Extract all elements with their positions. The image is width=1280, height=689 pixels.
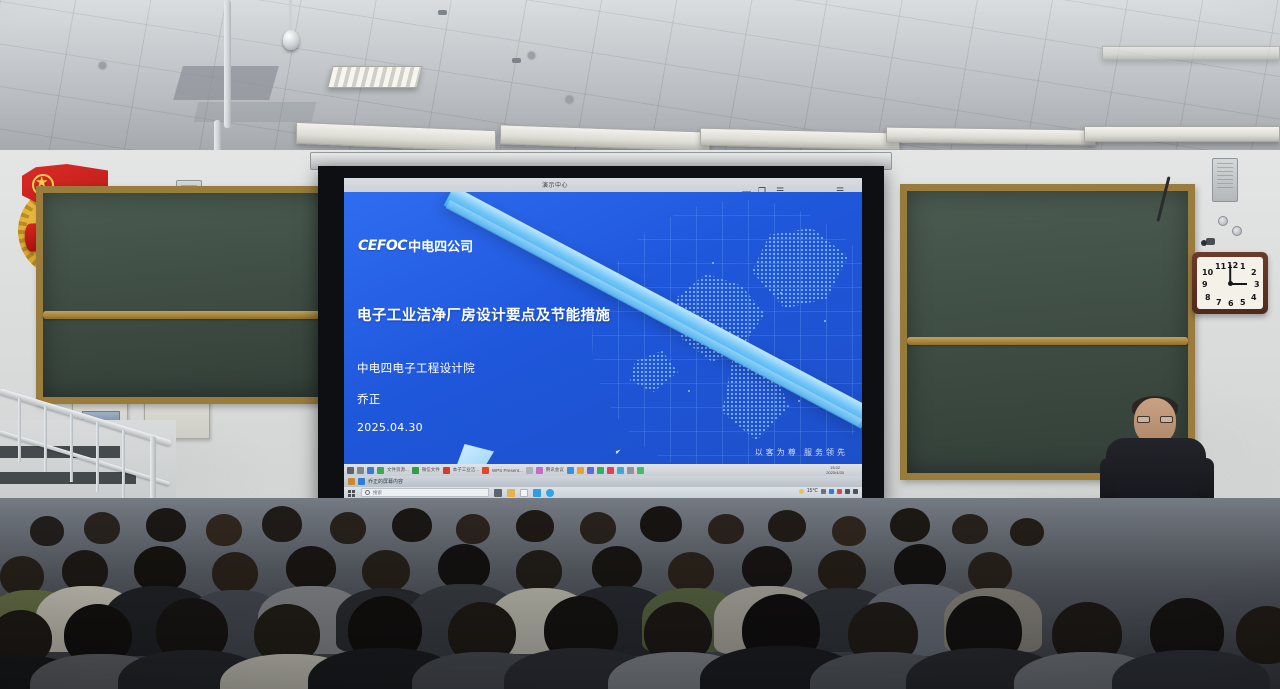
windows-start-icon[interactable] [348, 489, 356, 497]
taskbar-app-icon[interactable] [377, 467, 384, 474]
stair-baluster [96, 422, 99, 492]
audience-head [708, 514, 744, 544]
taskbar-app-icon[interactable] [637, 467, 644, 474]
clock-numeral: 10 [1202, 268, 1213, 277]
globe-node [780, 292, 782, 294]
clock-numeral: 4 [1251, 293, 1257, 302]
taskbar-app-icon[interactable] [347, 467, 354, 474]
store-icon[interactable] [520, 489, 528, 497]
audience-head [212, 552, 258, 594]
audience-head [1236, 606, 1280, 664]
logo-latin-text: CEFOC [358, 238, 407, 254]
clock-center-pin [1228, 281, 1233, 286]
ceiling-light-recessed [327, 66, 422, 88]
taskbar-app-label[interactable]: 本子工业洁... [453, 467, 479, 473]
edge-icon[interactable] [546, 489, 554, 497]
taskbar-app-icon[interactable] [577, 467, 584, 474]
audience-head [206, 514, 242, 546]
clock-numeral: 8 [1205, 293, 1211, 302]
audience-head [1010, 518, 1044, 546]
window-tab-title: 演示中心 [542, 180, 568, 189]
app-icon[interactable] [837, 489, 842, 494]
stair-baluster [122, 430, 125, 502]
taskbar-app-icon[interactable] [536, 467, 543, 474]
presentation-slide: CEFOC 中电四公司 电子工业洁净厂房设计要点及节能措施 中电四电子工程设计院… [344, 192, 862, 464]
remote-taskbar[interactable]: 文件资源... 微信文件 本子工业洁... WPS Present... 腾讯会… [344, 464, 862, 476]
audience-head [742, 546, 792, 590]
ceiling-projector-head [283, 30, 299, 50]
temperature-label: 15℃ [807, 488, 818, 494]
chalk-rail [43, 311, 329, 319]
audience-head [952, 514, 988, 544]
slide-organization: 中电四电子工程设计院 [357, 360, 475, 376]
ceiling-vent-2 [194, 102, 317, 122]
audience-head [84, 512, 120, 544]
stair-step [0, 472, 136, 484]
taskbar-app-icon[interactable] [443, 467, 450, 474]
microphone-icon[interactable] [348, 478, 355, 485]
screen-share-label: 乔正的屏幕内容 [368, 478, 403, 485]
slide-slogan: 以客为尊 服务领先 [755, 447, 848, 458]
wall-hook-right-1 [1218, 216, 1228, 226]
globe-node [824, 320, 826, 322]
taskbar-app-icon[interactable] [627, 467, 634, 474]
presenter-at-podium [1104, 398, 1208, 508]
taskbar-app-icon[interactable] [597, 467, 604, 474]
audience-head [818, 550, 866, 592]
wall-speaker-right [1212, 158, 1238, 202]
mouse-cursor-icon [616, 449, 625, 454]
clock-numeral: 1 [1240, 262, 1246, 271]
audience-head [668, 552, 714, 592]
partly-cloudy-icon[interactable] [799, 489, 804, 494]
ribbon-tail-graphic [452, 444, 494, 464]
ceiling-sensor-1 [438, 10, 447, 15]
screen-share-icon[interactable] [358, 478, 365, 485]
audience-head [30, 516, 64, 546]
system-tray[interactable]: 15℃ [799, 488, 858, 494]
file-explorer-icon[interactable] [507, 489, 515, 497]
task-view-icon[interactable] [494, 489, 502, 497]
taskbar-app-icon[interactable] [412, 467, 419, 474]
clock-date: 2025/4/30 [826, 470, 844, 475]
wall-conduit [224, 0, 231, 128]
search-placeholder: 搜索 [373, 490, 382, 496]
taskbar-app-icon[interactable] [367, 467, 374, 474]
taskbar-app-icon[interactable] [526, 467, 533, 474]
audience-head [456, 514, 490, 544]
wall-clock: 12 1 2 3 4 5 6 7 8 9 10 11 [1192, 252, 1268, 314]
taskbar-app-icon[interactable] [357, 467, 364, 474]
ceiling-sprinkler-2 [528, 52, 535, 59]
slide-presenter-name: 乔正 [357, 391, 381, 407]
taskbar-app-label[interactable]: 微信文件 [422, 467, 440, 473]
audience-head [330, 512, 366, 544]
clock-numeral: 2 [1251, 268, 1257, 277]
speaker-grill [1217, 163, 1233, 191]
onedrive-icon[interactable] [829, 489, 834, 494]
slide-date: 2025.04.30 [357, 421, 423, 434]
chevron-up-icon[interactable] [821, 489, 826, 494]
stair-baluster [18, 398, 21, 462]
audience-head [516, 510, 554, 542]
ceiling-light-bar-5 [1084, 126, 1280, 142]
lens-left [1137, 416, 1150, 423]
globe-node [712, 262, 714, 264]
taskbar-app-icon[interactable] [607, 467, 614, 474]
stair-baluster [44, 406, 47, 472]
remote-taskbar-clock: 15:02 2025/4/30 [826, 465, 844, 475]
clock-numeral: 7 [1216, 298, 1222, 307]
search-icon [365, 490, 370, 495]
taskbar-app-icon[interactable] [567, 467, 574, 474]
audience-head [832, 516, 866, 546]
clock-numeral: 11 [1215, 262, 1226, 271]
audience-head [516, 550, 562, 592]
logo-chinese-text: 中电四公司 [408, 236, 473, 255]
taskbar-app-label[interactable]: 文件资源... [387, 467, 409, 473]
taskbar-app-label[interactable]: 腾讯会议 [546, 467, 564, 473]
taskbar-app-icon[interactable] [587, 467, 594, 474]
seated-audience [0, 498, 1280, 689]
projected-screen: 演示中心 — ❐ ☰ ☰ 正在演示 · 共享中 [344, 178, 862, 498]
clock-numeral: 6 [1228, 299, 1234, 308]
taskbar-app-icon[interactable] [482, 467, 489, 474]
stair-baluster [70, 414, 73, 482]
clock-numeral: 9 [1202, 280, 1208, 289]
taskbar-app-icon[interactable] [617, 467, 624, 474]
ceiling-sprinkler-1 [99, 62, 106, 69]
audience-head [968, 552, 1012, 592]
lens-right [1160, 416, 1173, 423]
clock-face: 12 1 2 3 4 5 6 7 8 9 10 11 [1197, 257, 1263, 309]
network-icon[interactable] [845, 489, 850, 494]
audience-head [592, 546, 642, 590]
clock-numeral: 3 [1254, 280, 1260, 289]
audience-head [640, 506, 682, 542]
projector-hanger-rod [289, 0, 292, 34]
clock-numeral: 5 [1240, 298, 1246, 307]
audience-head [146, 508, 186, 542]
audience-head [890, 508, 930, 542]
wall-bracket-right [1206, 238, 1215, 245]
lecture-hall-photo: 中国共青团 12 1 2 3 4 5 6 [0, 0, 1280, 689]
audience-head [768, 510, 806, 542]
blackboard-left [36, 186, 336, 404]
mail-icon[interactable] [533, 489, 541, 497]
audience-head [580, 512, 616, 544]
chalk-rail [907, 337, 1188, 345]
ceiling [0, 0, 1280, 172]
globe-node [688, 390, 690, 392]
wall-hook-right-2 [1232, 226, 1242, 236]
audience-head [262, 506, 302, 542]
ceiling-light-bar-6 [1102, 46, 1280, 60]
volume-icon[interactable] [853, 489, 858, 494]
taskbar-app-label[interactable]: WPS Present... [492, 468, 523, 473]
audience-head [362, 550, 410, 592]
audience-head [392, 508, 432, 542]
ceiling-sensor-2 [512, 58, 521, 63]
search-input[interactable]: 搜索 [361, 488, 489, 497]
globe-node [798, 400, 800, 402]
stair-newel-post [150, 436, 156, 506]
slide-title: 电子工业洁净厂房设计要点及节能措施 [357, 304, 610, 325]
cefoc-logo: CEFOC 中电四公司 [358, 236, 473, 255]
screen-share-bar[interactable]: 乔正的屏幕内容 [344, 476, 862, 487]
ceiling-sprinkler-3 [566, 96, 573, 103]
eyeglasses-icon [1137, 416, 1173, 423]
ceiling-light-bar-4 [886, 127, 1096, 146]
audience-head [286, 546, 336, 590]
windows-taskbar[interactable]: 搜索 [344, 487, 862, 498]
